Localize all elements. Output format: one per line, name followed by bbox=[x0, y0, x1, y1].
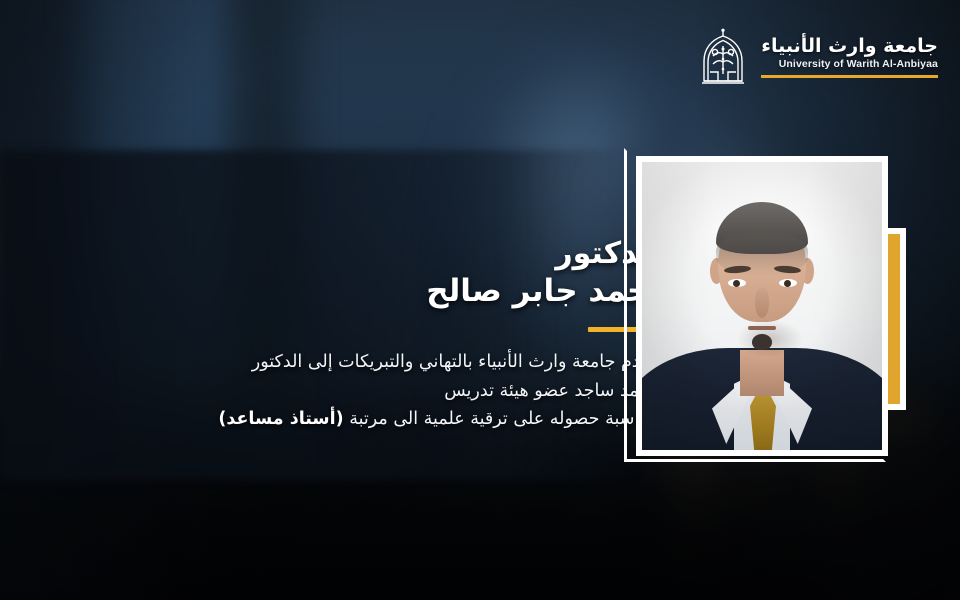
brand-underline-rule bbox=[761, 75, 938, 78]
congratulation-card: جامعة وارث الأنبياء University of Warith… bbox=[0, 0, 960, 600]
brand-name-arabic: جامعة وارث الأنبياء bbox=[761, 36, 938, 58]
portrait-shading bbox=[642, 162, 882, 450]
message-block: الدكتور أحمد جابر صالح تتقدم جامعة وارث … bbox=[85, 236, 660, 433]
honorific-title: الدكتور bbox=[85, 236, 660, 271]
brand-text-group: جامعة وارث الأنبياء University of Warith… bbox=[761, 36, 938, 77]
university-brand-lockup: جامعة وارث الأنبياء University of Warith… bbox=[697, 28, 938, 86]
brand-name-english: University of Warith Al-Anbiyaa bbox=[761, 58, 938, 72]
rank-emphasis: (أستاذ مساعد) bbox=[218, 409, 343, 429]
message-line-3-text: بمناسبة حصوله على ترقية علمية الى مرتبة bbox=[344, 409, 660, 429]
photo-mat bbox=[636, 156, 888, 456]
avatar bbox=[642, 162, 882, 450]
mosque-emblem-icon bbox=[697, 28, 749, 86]
message-line-1: تتقدم جامعة وارث الأنبياء بالتهاني والتب… bbox=[85, 348, 660, 376]
message-line-3: بمناسبة حصوله على ترقية علمية الى مرتبة … bbox=[85, 405, 660, 433]
person-name: أحمد جابر صالح bbox=[85, 273, 660, 311]
message-line-2: محمد ساجد عضو هيئة تدريس bbox=[85, 377, 660, 405]
